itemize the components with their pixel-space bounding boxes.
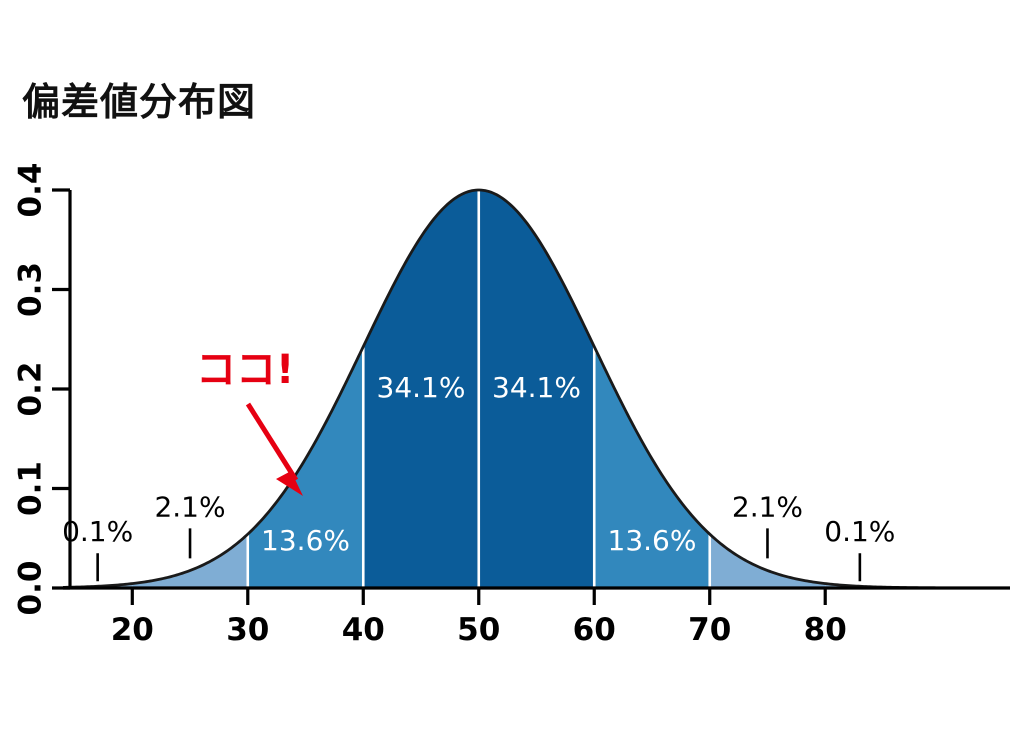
band-label-40-50: 34.1% bbox=[377, 371, 466, 404]
band-label-70-80: 2.1% bbox=[732, 490, 803, 523]
y-tick-label-0.4: 0.4 bbox=[13, 163, 49, 218]
x-tick-label-30: 30 bbox=[226, 612, 269, 648]
y-tick-label-0.0: 0.0 bbox=[13, 561, 49, 616]
band-label-30-40: 13.6% bbox=[261, 524, 350, 557]
annotation-group: ココ! bbox=[196, 347, 303, 496]
band-label-50-60: 34.1% bbox=[492, 371, 581, 404]
x-tick-label-20: 20 bbox=[111, 612, 154, 648]
x-tick-label-70: 70 bbox=[688, 612, 731, 648]
distribution-plot: 20304050607080 0.00.10.20.30.4 2.1%13.6%… bbox=[0, 0, 1024, 736]
band-label-60-70: 13.6% bbox=[608, 524, 697, 557]
y-tick-label-0.3: 0.3 bbox=[13, 262, 49, 317]
x-tick-label-80: 80 bbox=[804, 612, 847, 648]
annotation-arrow-line bbox=[248, 404, 296, 480]
y-tick-label-0.1: 0.1 bbox=[13, 461, 49, 516]
y-tick-label-0.2: 0.2 bbox=[13, 362, 49, 417]
x-tick-label-40: 40 bbox=[342, 612, 385, 648]
annotation-text: ココ! bbox=[196, 347, 294, 393]
y-axis-tick-labels: 0.00.10.20.30.4 bbox=[13, 163, 49, 616]
tail-label-right: 0.1% bbox=[824, 515, 895, 548]
x-axis-tick-labels: 20304050607080 bbox=[111, 612, 847, 648]
x-tick-label-50: 50 bbox=[457, 612, 500, 648]
band-label-20-30: 2.1% bbox=[154, 490, 225, 523]
tail-label-left: 0.1% bbox=[62, 515, 133, 548]
x-tick-label-60: 60 bbox=[573, 612, 616, 648]
chart-canvas: 偏差値分布図 20304050607080 0.00.10.20.30.4 2.… bbox=[0, 0, 1024, 736]
